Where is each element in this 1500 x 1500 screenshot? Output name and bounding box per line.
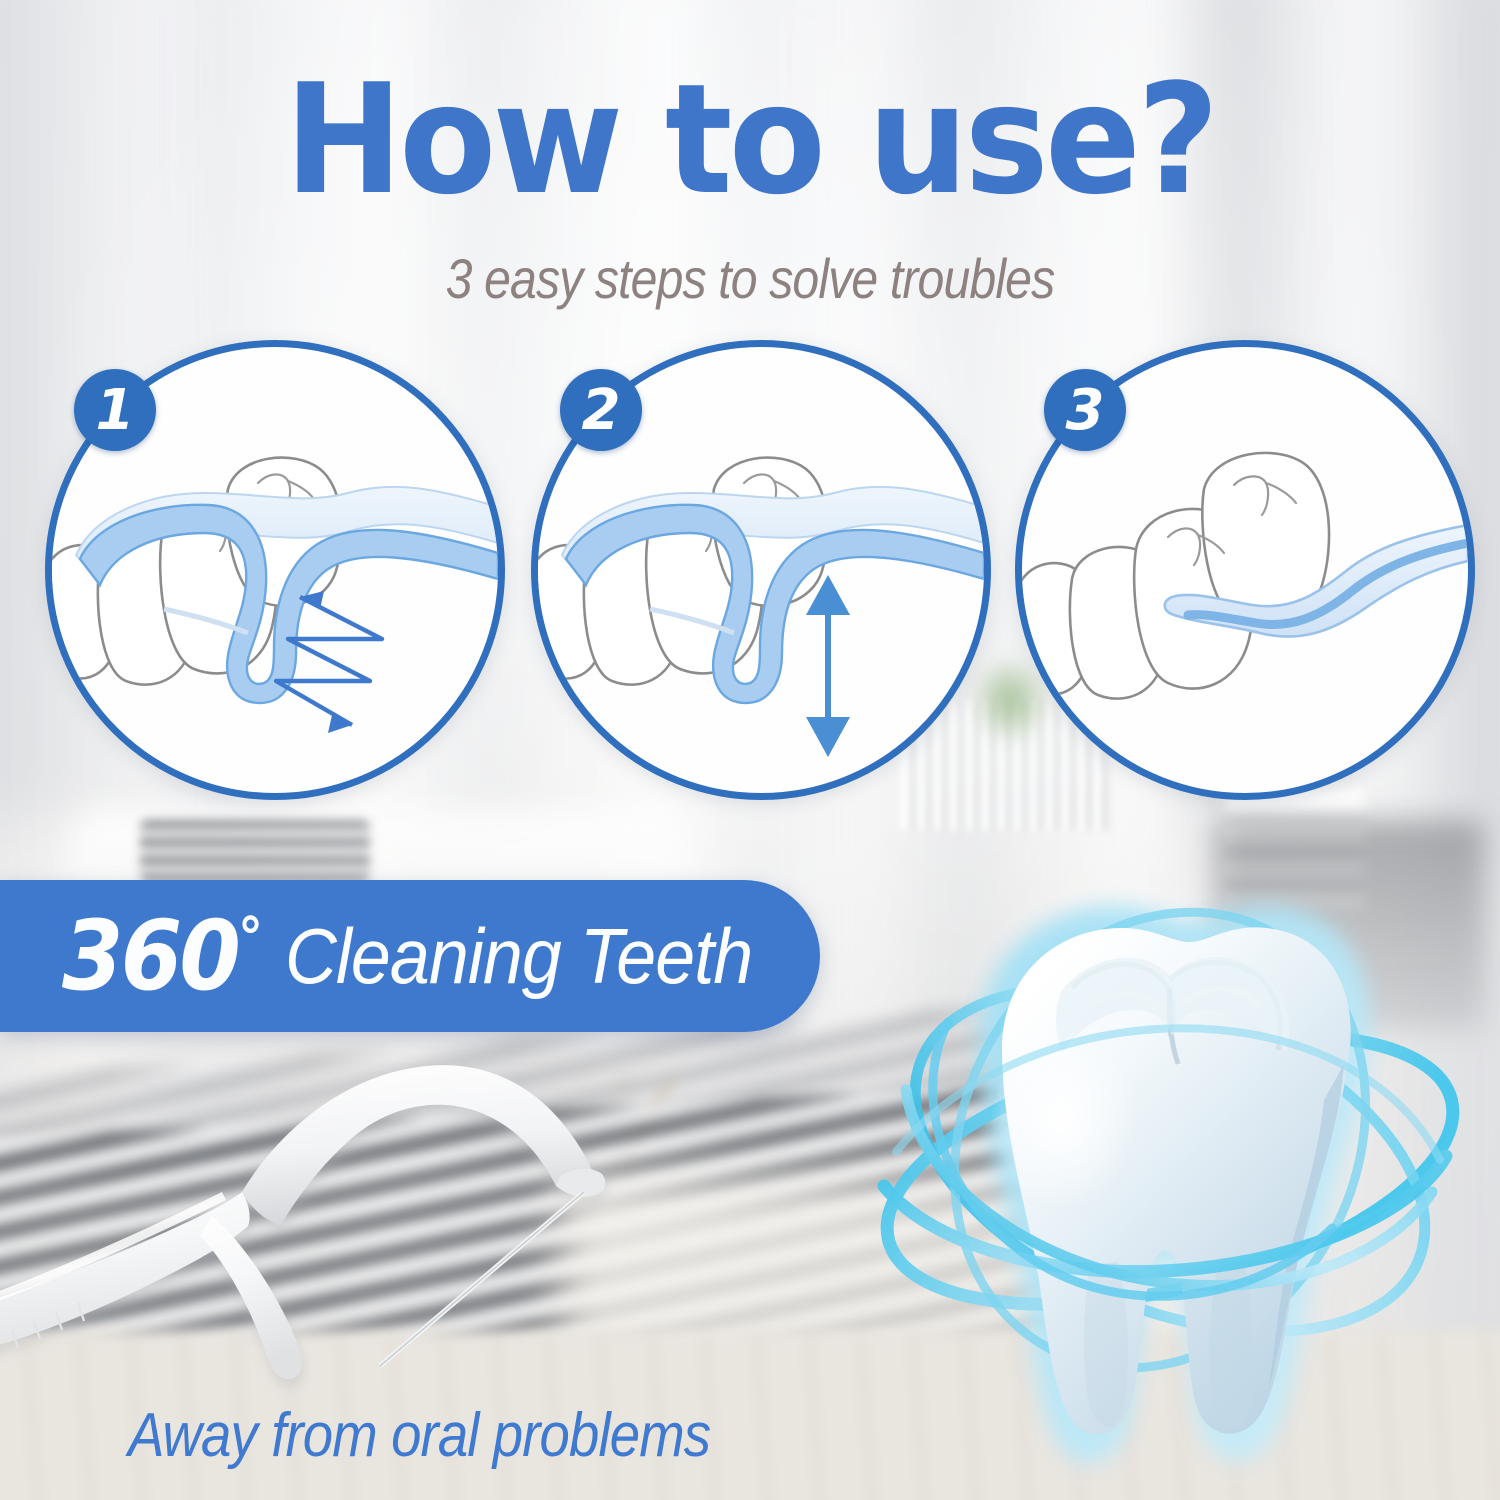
degree-symbol-icon: ° — [238, 906, 260, 969]
floss-pick-arc — [242, 1065, 596, 1226]
step-1-number-badge: 1 — [74, 369, 156, 451]
floss-pick-lower-prong — [200, 1216, 302, 1379]
banner-label: Cleaning Teeth — [285, 911, 752, 1002]
step-2-number-badge: 2 — [560, 369, 642, 451]
step-3-number-badge: 3 — [1044, 369, 1126, 451]
floss-pick-product-photo — [0, 1020, 680, 1420]
steps-row: 1 — [0, 0, 1500, 820]
step-circle-3: 3 — [1015, 340, 1475, 800]
tagline-text: Away from oral problems — [128, 1400, 710, 1471]
tooth-illustration — [840, 840, 1500, 1500]
cleaning-banner: 360° Cleaning Teeth — [0, 880, 820, 1032]
step-circle-2: 2 — [531, 340, 991, 800]
tooth-with-orbits — [840, 840, 1500, 1500]
banner-degrees-number: 360 — [62, 900, 238, 1012]
banner-degrees: 360° — [62, 908, 260, 1004]
infographic-page: How to use? 3 easy steps to solve troubl… — [0, 0, 1500, 1500]
floss-thread-shadow — [380, 1192, 584, 1366]
step-circle-1: 1 — [45, 340, 505, 800]
floss-pick-render — [0, 1020, 680, 1420]
vertical-double-arrow-icon — [806, 575, 850, 757]
floss-pick-body — [0, 1065, 605, 1379]
